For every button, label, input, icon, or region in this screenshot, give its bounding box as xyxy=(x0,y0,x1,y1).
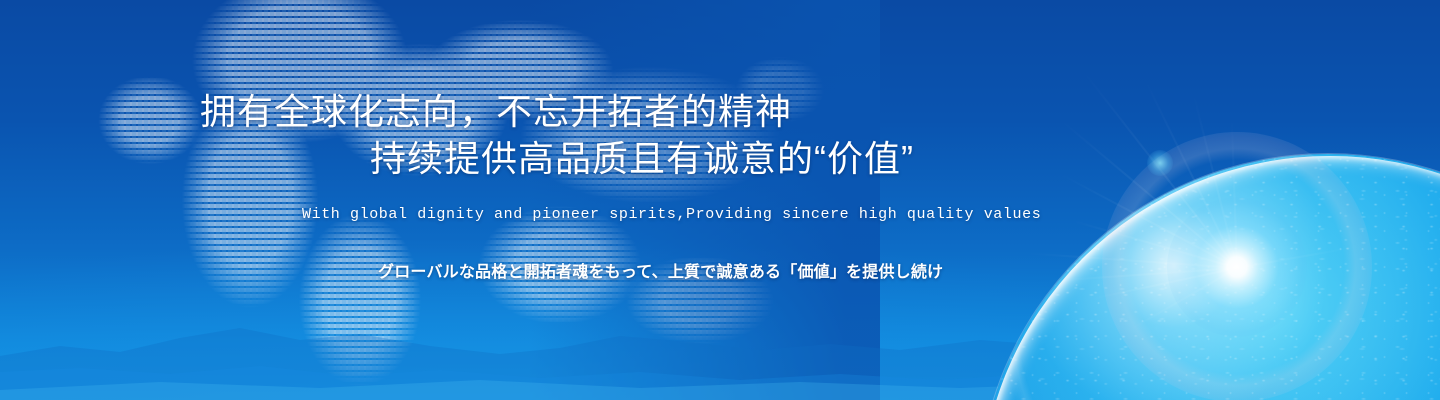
sun-ray xyxy=(1060,119,1237,268)
dotted-world-map-fade xyxy=(0,0,880,400)
sun-ray xyxy=(1060,173,1238,269)
sun-ray xyxy=(1192,93,1237,268)
globe-sphere xyxy=(978,154,1440,400)
globe-texture xyxy=(978,154,1440,400)
hero-banner: 拥有全球化志向，不忘开拓者的精神 持续提供高品质且有诚意的“价值” With g… xyxy=(0,0,1440,400)
sun-ray xyxy=(1237,246,1356,269)
banner-copy: 拥有全球化志向，不忘开拓者的精神 持续提供高品质且有诚意的“价值” With g… xyxy=(0,0,1100,400)
sun-ray xyxy=(1073,220,1237,269)
sky-glow xyxy=(0,240,1440,400)
dotted-world-map xyxy=(0,0,880,400)
sun-ray xyxy=(1231,118,1238,268)
sun-halo xyxy=(1102,132,1372,400)
earth-globe xyxy=(920,0,1440,400)
mountain-silhouette xyxy=(0,310,1440,400)
globe-arcs xyxy=(978,154,1440,400)
lens-flare-orb xyxy=(1147,150,1173,176)
sun-ray xyxy=(1027,252,1237,269)
sun-ray xyxy=(1047,267,1237,282)
subtitle-english: With global dignity and pioneer spirits,… xyxy=(302,206,1041,223)
headline-line-2: 持续提供高品质且有诚意的“价值” xyxy=(200,135,914,182)
sun-ray xyxy=(1082,70,1237,268)
sun-ray xyxy=(1144,79,1238,269)
subtitle-japanese: グローバルな品格と開拓者魂をもって、上質で誠意ある「価値」を提供し続け xyxy=(378,258,943,282)
sun-ray xyxy=(1090,267,1237,300)
sun-core xyxy=(1167,197,1307,337)
headline: 拥有全球化志向，不忘开拓者的精神 持续提供高品质且有诚意的“价值” xyxy=(200,88,914,182)
globe-rim-glow xyxy=(978,154,1440,400)
headline-line-1: 拥有全球化志向，不忘开拓者的精神 xyxy=(200,91,792,132)
sun-ray xyxy=(1124,267,1238,334)
